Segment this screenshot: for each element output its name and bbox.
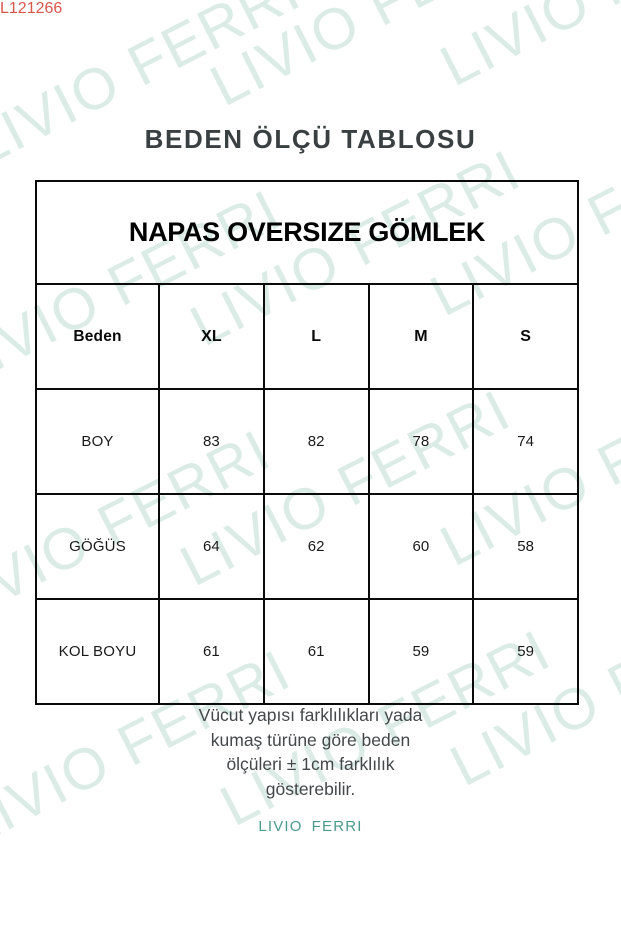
- product-code: L121266: [0, 0, 621, 18]
- cell-kol-boyu-s: 59: [473, 599, 578, 704]
- brand-logo-word-ferri: FERRI: [312, 818, 363, 835]
- cell-boy-m: 78: [369, 389, 474, 494]
- disclaimer-line: gösterebilir.: [0, 777, 621, 802]
- cell-gogus-xl: 64: [159, 494, 264, 599]
- product-name-cell: NAPAS OVERSIZE GÖMLEK: [36, 181, 578, 284]
- row-label-gogus: GÖĞÜS: [36, 494, 159, 599]
- header-cell-m: M: [369, 284, 474, 389]
- header-cell-xl: XL: [159, 284, 264, 389]
- table-row: GÖĞÜS 64 62 60 58: [36, 494, 578, 599]
- cell-boy-s: 74: [473, 389, 578, 494]
- row-label-boy: BOY: [36, 389, 159, 494]
- size-chart-page: L121266 BEDEN ÖLÇÜ TABLOSU NAPAS OVERSIZ…: [0, 0, 621, 931]
- cell-kol-boyu-xl: 61: [159, 599, 264, 704]
- brand-logo-word-livio: LIVIO: [258, 818, 302, 835]
- row-label-kol-boyu: KOL BOYU: [36, 599, 159, 704]
- header-cell-l: L: [264, 284, 369, 389]
- cell-boy-xl: 83: [159, 389, 264, 494]
- disclaimer-line: Vücut yapısı farklılıkları yada: [0, 703, 621, 728]
- page-title: BEDEN ÖLÇÜ TABLOSU: [0, 124, 621, 155]
- header-cell-s: S: [473, 284, 578, 389]
- cell-gogus-s: 58: [473, 494, 578, 599]
- table-row-product-name: NAPAS OVERSIZE GÖMLEK: [36, 181, 578, 284]
- brand-logo: LIVIOFERRI: [0, 818, 621, 835]
- cell-kol-boyu-l: 61: [264, 599, 369, 704]
- cell-gogus-l: 62: [264, 494, 369, 599]
- disclaimer-line: kumaş türüne göre beden: [0, 728, 621, 753]
- cell-boy-l: 82: [264, 389, 369, 494]
- table-row: BOY 83 82 78 74: [36, 389, 578, 494]
- disclaimer-text: Vücut yapısı farklılıkları yada kumaş tü…: [0, 703, 621, 801]
- table-row: KOL BOYU 61 61 59 59: [36, 599, 578, 704]
- cell-gogus-m: 60: [369, 494, 474, 599]
- header-cell-beden: Beden: [36, 284, 159, 389]
- size-table: NAPAS OVERSIZE GÖMLEK Beden XL L M S BOY…: [35, 180, 579, 705]
- table-row-header: Beden XL L M S: [36, 284, 578, 389]
- disclaimer-line: ölçüleri ± 1cm farklılık: [0, 752, 621, 777]
- cell-kol-boyu-m: 59: [369, 599, 474, 704]
